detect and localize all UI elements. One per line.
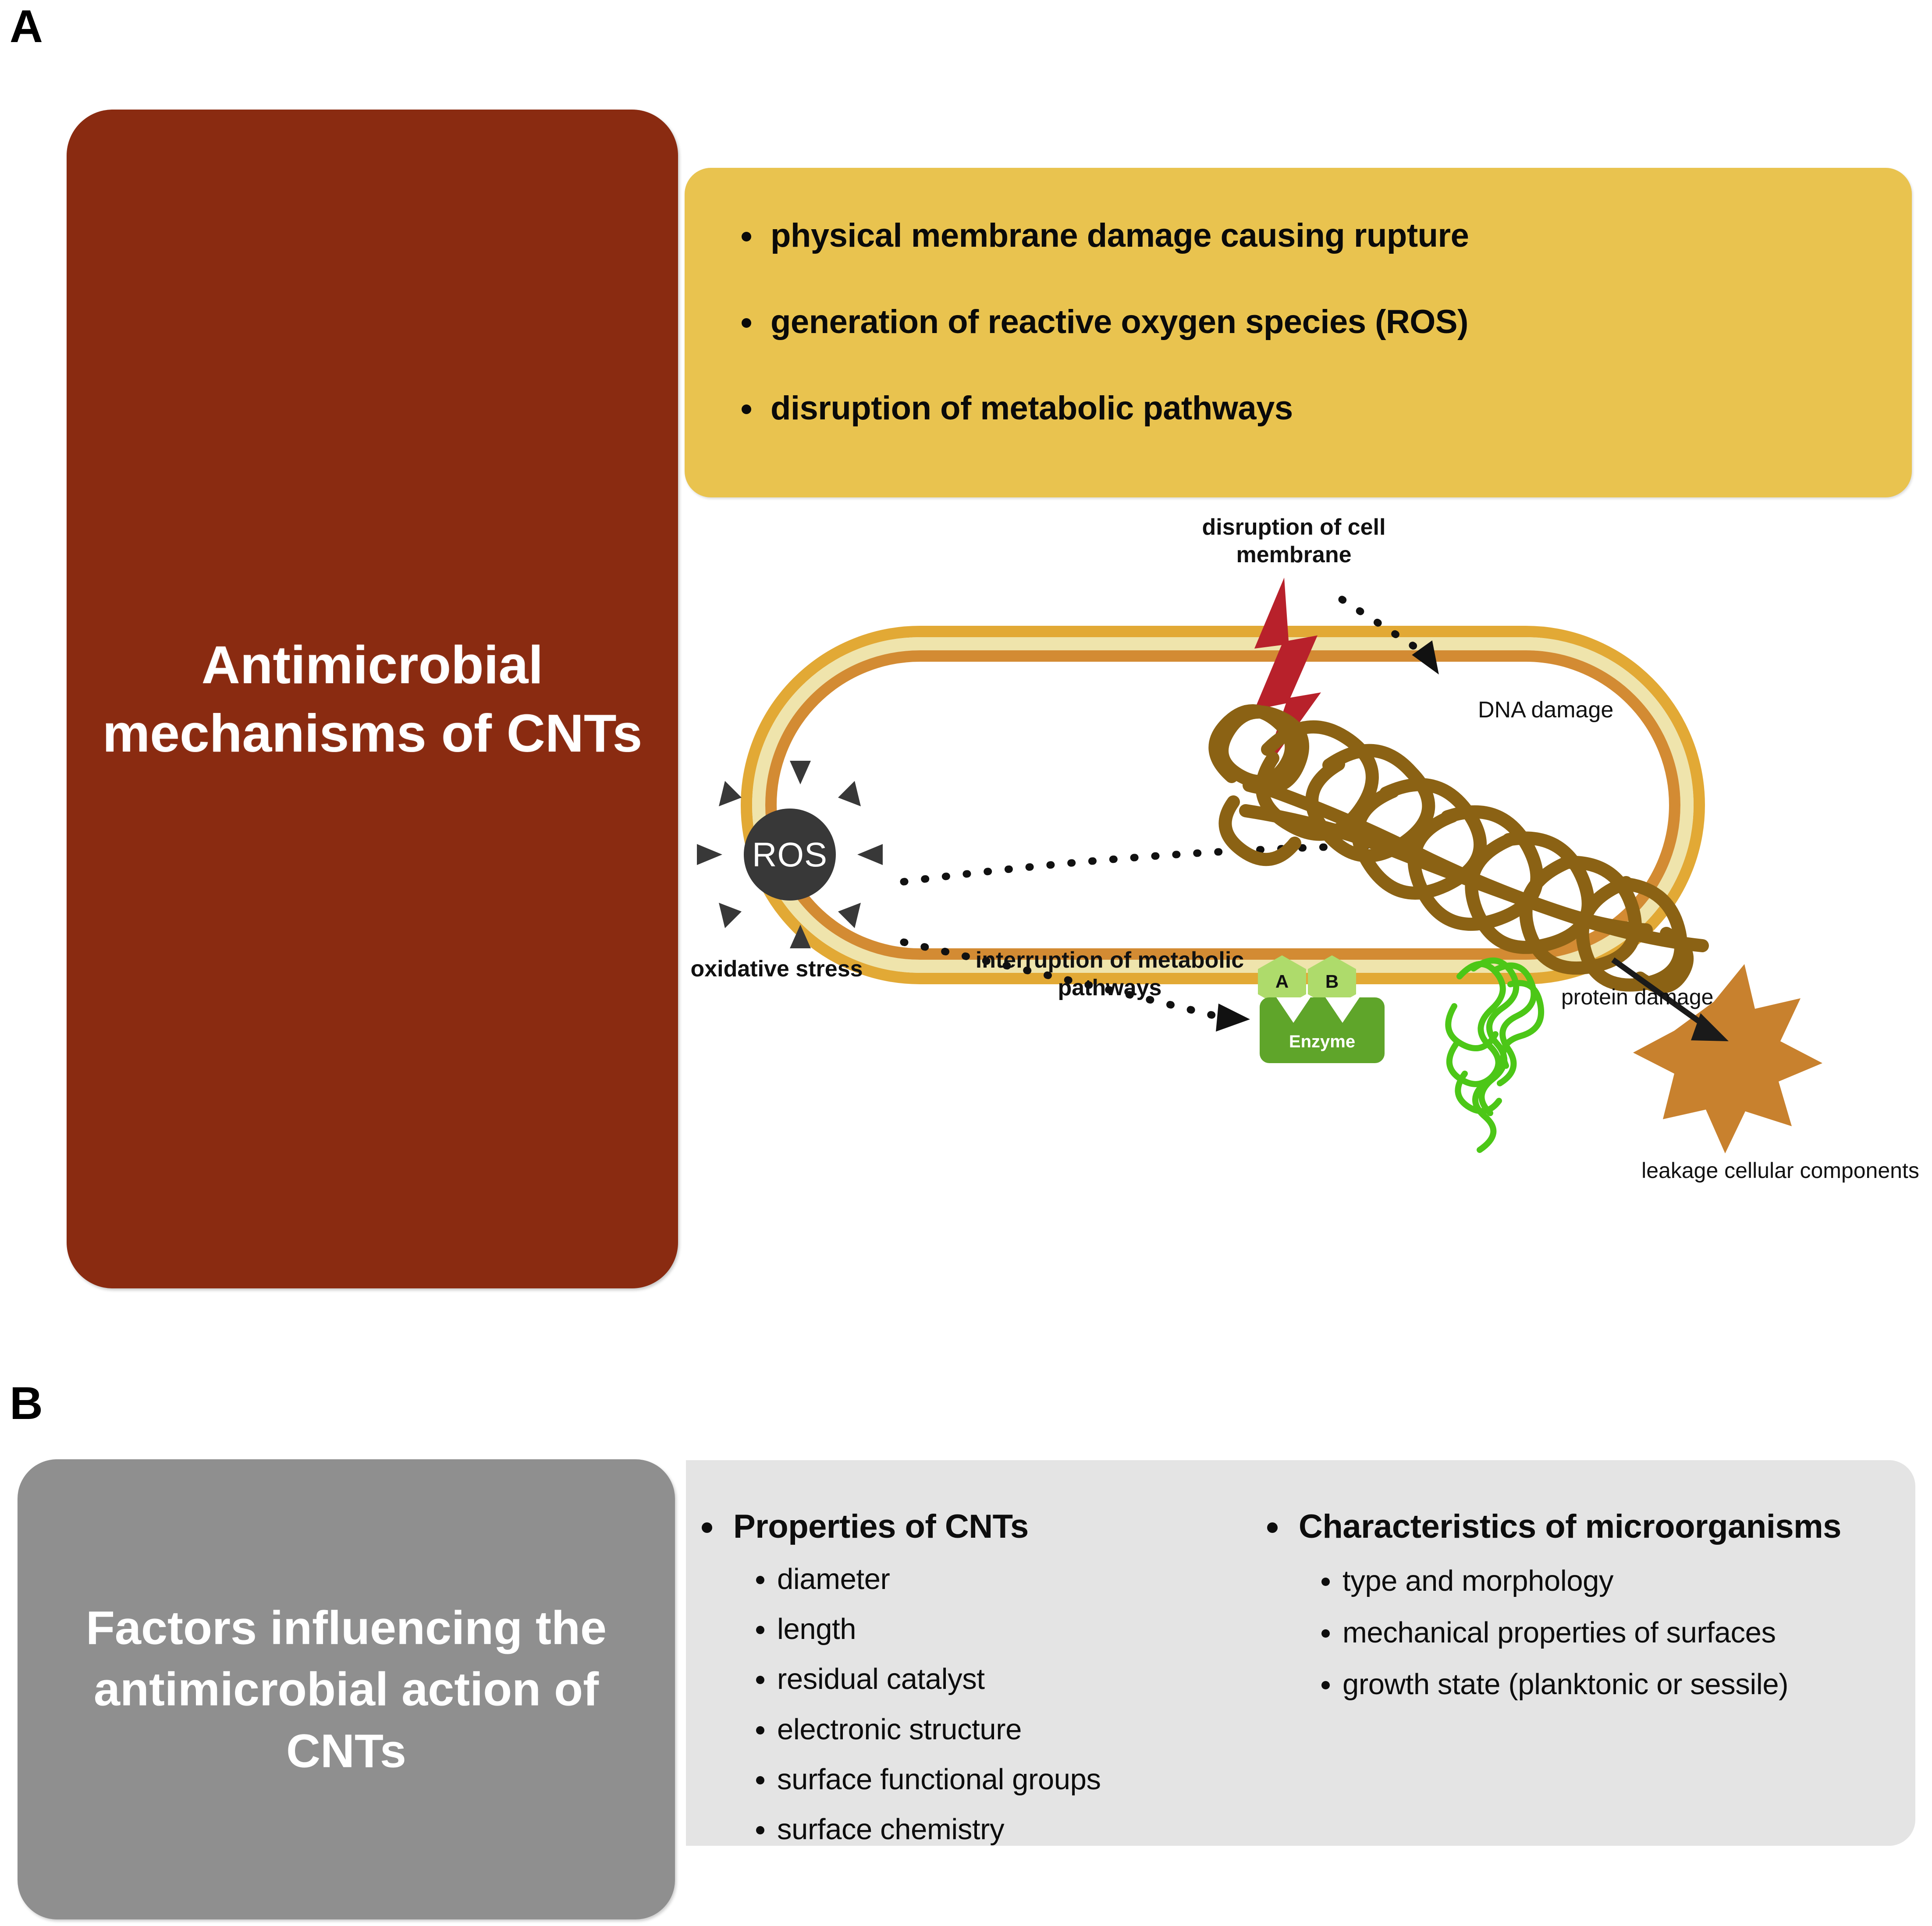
list-item: electronic structure [752, 1714, 1251, 1745]
panel-a: A Antimicrobial mechanisms of CNTs physi… [0, 0, 1932, 1350]
list-item: diameter [752, 1564, 1251, 1595]
label-interruption-of-metabolic-pathways: interruption of metabolic pathways [956, 947, 1263, 1002]
group-item-list: type and morphology mechanical propertie… [1251, 1565, 1909, 1701]
list-item: type and morphology [1317, 1565, 1909, 1597]
antimicrobial-mechanisms-box: Antimicrobial mechanisms of CNTs [67, 110, 678, 1288]
factors-content-panel: Properties of CNTs diameter length resid… [686, 1460, 1915, 1846]
list-item: generation of reactive oxygen species (R… [736, 303, 1886, 341]
panel-a-letter: A [10, 4, 43, 50]
panel-b-title: Factors influencing the antimicrobial ac… [18, 1597, 675, 1781]
enzyme-label: Enzyme [1260, 1032, 1385, 1052]
ros-circle: ROS [744, 809, 836, 901]
mechanisms-list-box: physical membrane damage causing rupture… [685, 168, 1912, 497]
ros-burst: ROS [698, 763, 882, 947]
ros-label: ROS [752, 835, 827, 875]
arrowhead-3 [1216, 1004, 1250, 1032]
label-protein-damage: protein damage [1561, 984, 1750, 1011]
panel-b-letter: B [10, 1380, 43, 1426]
list-item: surface functional groups [752, 1764, 1251, 1795]
list-item: mechanical properties of surfaces [1317, 1617, 1909, 1649]
dna-tangle-icon [1215, 711, 1702, 987]
bacterial-cell-diagram: ROS A B Enzyme disruption of cell membra… [685, 504, 1932, 1249]
enzyme-body [1260, 997, 1385, 1063]
list-item: surface chemistry [752, 1814, 1251, 1845]
list-item: growth state (planktonic or sessile) [1317, 1669, 1909, 1700]
list-item: disruption of metabolic pathways [736, 390, 1886, 427]
list-item: physical membrane damage causing rupture [736, 217, 1886, 254]
mechanisms-list: physical membrane damage causing rupture… [736, 217, 1886, 427]
label-disruption-of-cell-membrane: disruption of cell membrane [1162, 514, 1425, 569]
group-heading: Characteristics of microorganisms [1251, 1508, 1909, 1545]
factors-column-microorganism-characteristics: Characteristics of microorganisms type a… [1251, 1460, 1909, 1701]
list-item: length [752, 1614, 1251, 1645]
factors-column-cnt-properties: Properties of CNTs diameter length resid… [686, 1460, 1251, 1846]
list-item: residual catalyst [752, 1664, 1251, 1695]
group-heading: Properties of CNTs [686, 1508, 1251, 1545]
label-dna-damage: DNA damage [1478, 697, 1750, 723]
panel-a-title: Antimicrobial mechanisms of CNTs [67, 631, 678, 767]
protein-ribbon-icon [1448, 961, 1541, 1150]
label-oxidative-stress: oxidative stress [685, 955, 869, 983]
factors-influencing-box: Factors influencing the antimicrobial ac… [18, 1459, 675, 1919]
enzyme-complex: A B Enzyme [1250, 955, 1395, 1065]
arrow-ros-to-dna [904, 846, 1377, 882]
group-item-list: diameter length residual catalyst electr… [686, 1564, 1251, 1846]
label-leakage-cellular-components: leakage cellular components [1627, 1157, 1932, 1184]
arrowhead-1 [1412, 636, 1453, 674]
panel-b: B Factors influencing the antimicrobial … [0, 1380, 1932, 1926]
arrow-membrane-to-dna [1342, 599, 1426, 654]
